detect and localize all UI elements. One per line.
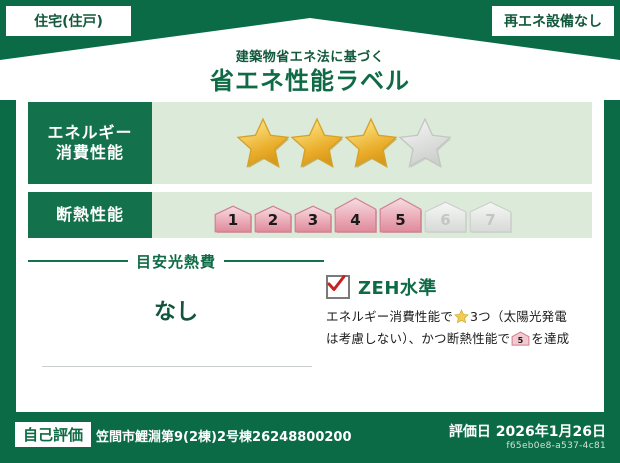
check-icon [326, 274, 346, 294]
row-energy-performance: エネルギー 消費性能 [28, 102, 592, 184]
insulation-level-number: 7 [469, 211, 512, 229]
insulation-level-house: 5 [379, 197, 422, 233]
dwelling-type-tag: 住宅(住戸) [6, 6, 131, 36]
zeh-desc-stars: 3つ（太陽光発電 [470, 309, 567, 324]
row-insulation-value: 1234567 [152, 192, 592, 238]
row-energy-value [152, 102, 592, 184]
star-icon-filled [236, 116, 290, 170]
utility-cost-section: 目安光熱費 なし [28, 248, 326, 398]
star-icon-inline [454, 309, 469, 324]
renewable-equipment-tag: 再エネ設備なし [492, 6, 614, 36]
lower-section: 目安光熱費 なし ZEH水準 エネルギー消費性能で3つ（太陽光発電 [28, 248, 592, 398]
footer: 自己評価 笠間市鯉淵第9(2棟)2号棟26248800200 評価日 2026年… [0, 416, 620, 463]
utility-cost-heading-text: 目安光熱費 [128, 251, 224, 272]
insulation-level-house: 2 [254, 205, 292, 233]
zeh-description: エネルギー消費性能で3つ（太陽光発電 は考慮しない）、かつ断熱性能で5を達成 [326, 306, 592, 350]
insulation-level-house: 6 [424, 201, 467, 233]
insulation-level-house: 1 [214, 205, 252, 233]
insulation-level-house: 3 [294, 205, 332, 233]
row-energy-label-line1: エネルギー [47, 123, 132, 143]
row-insulation-label-line1: 断熱性能 [56, 205, 124, 225]
insulation-level-number: 4 [334, 211, 377, 229]
evaluation-date-value: 2026年1月26日 [496, 424, 606, 440]
zeh-desc-part1: エネルギー消費性能で [326, 309, 453, 324]
zeh-desc-part3: を達成 [531, 331, 569, 346]
insulation-level-number: 1 [214, 211, 252, 229]
energy-performance-label: 建築物省エネ法に基づく 省エネ性能ラベル 住宅(住戸) 再エネ設備なし エネルギ… [0, 0, 620, 463]
heading-rule-left [28, 260, 128, 262]
property-address: 笠間市鯉淵第9(2棟)2号棟26248800200 [96, 426, 352, 445]
insulation-level-house: 7 [469, 201, 512, 233]
row-insulation-label: 断熱性能 [28, 192, 152, 238]
label-body-panel: エネルギー 消費性能 断熱性能 1234567 目安光熱費 [16, 92, 604, 412]
insulation-level-number: 2 [254, 211, 292, 229]
heading-rule-right [224, 260, 324, 262]
insulation-level-number: 6 [424, 211, 467, 229]
evaluation-hash: f65eb0e8-a537-4c81 [506, 441, 606, 451]
evaluation-date: 評価日 2026年1月26日 [449, 421, 606, 441]
insulation-level-scale: 1234567 [214, 197, 512, 233]
row-energy-label-line2: 消費性能 [56, 143, 124, 163]
zeh-checkbox[interactable] [326, 275, 350, 299]
self-evaluation-badge: 自己評価 [15, 422, 91, 447]
zeh-title: ZEH水準 [358, 274, 437, 300]
insulation-level-house: 4 [334, 197, 377, 233]
star-rating [236, 116, 452, 170]
insulation-level-number: 5 [379, 211, 422, 229]
label-subtitle: 建築物省エネ法に基づく [236, 51, 385, 65]
zeh-section: ZEH水準 エネルギー消費性能で3つ（太陽光発電 は考慮しない）、かつ断熱性能で… [326, 248, 592, 398]
row-energy-label: エネルギー 消費性能 [28, 102, 152, 184]
evaluation-date-label: 評価日 [449, 424, 491, 440]
utility-cost-value: なし [28, 294, 324, 326]
zeh-heading: ZEH水準 [326, 274, 592, 300]
house-icon-inline: 5 [511, 331, 530, 346]
zeh-desc-part2: は考慮しない）、かつ断熱性能で [326, 331, 510, 346]
star-icon-filled [290, 116, 344, 170]
utility-cost-divider [42, 366, 312, 367]
star-icon-empty [398, 116, 452, 170]
star-icon-filled [344, 116, 398, 170]
svg-text:5: 5 [518, 336, 524, 345]
insulation-level-number: 3 [294, 211, 332, 229]
utility-cost-heading: 目安光熱費 [28, 252, 324, 270]
row-insulation-performance: 断熱性能 1234567 [28, 192, 592, 238]
